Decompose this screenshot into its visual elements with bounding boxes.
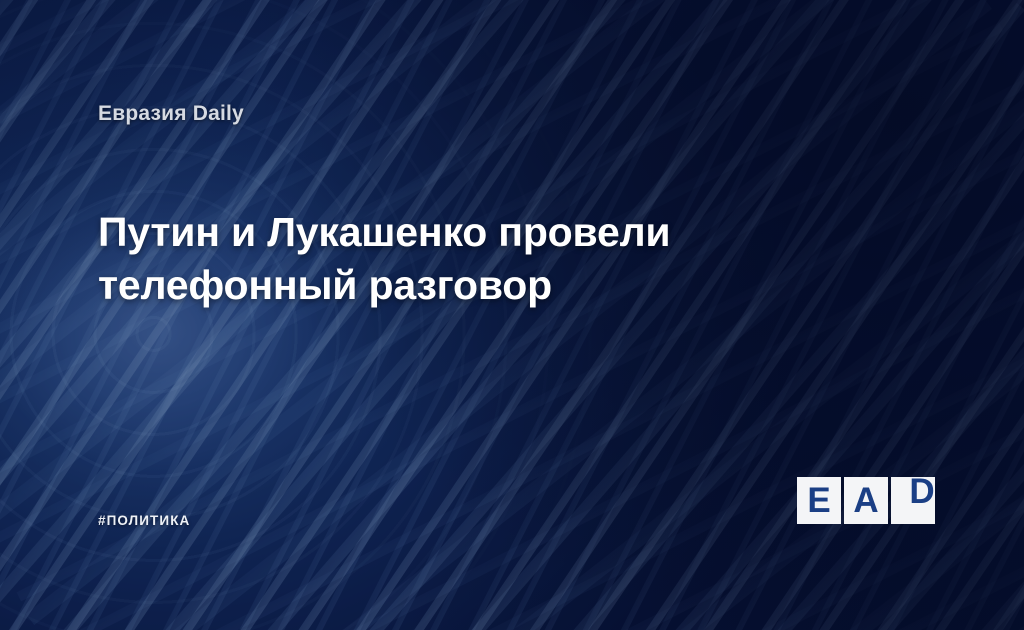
logo-tile-d: D D [891,477,935,524]
brand-wordmark: Евразия Daily [98,102,244,126]
logo-tile-a: A [844,477,888,524]
card-content: Евразия Daily Путин и Лукашенко провели … [0,0,1024,630]
eadaily-logo[interactable]: E A D D [797,477,939,524]
logo-letter-d: D [900,468,944,515]
logo-letter-e: E [797,477,841,524]
logo-letter-a: A [844,477,888,524]
headline-text: Путин и Лукашенко провели телефонный раз… [98,206,778,313]
category-tag[interactable]: #ПОЛИТИКА [98,513,190,528]
news-card: Евразия Daily Путин и Лукашенко провели … [0,0,1024,630]
logo-tile-e: E [797,477,841,524]
